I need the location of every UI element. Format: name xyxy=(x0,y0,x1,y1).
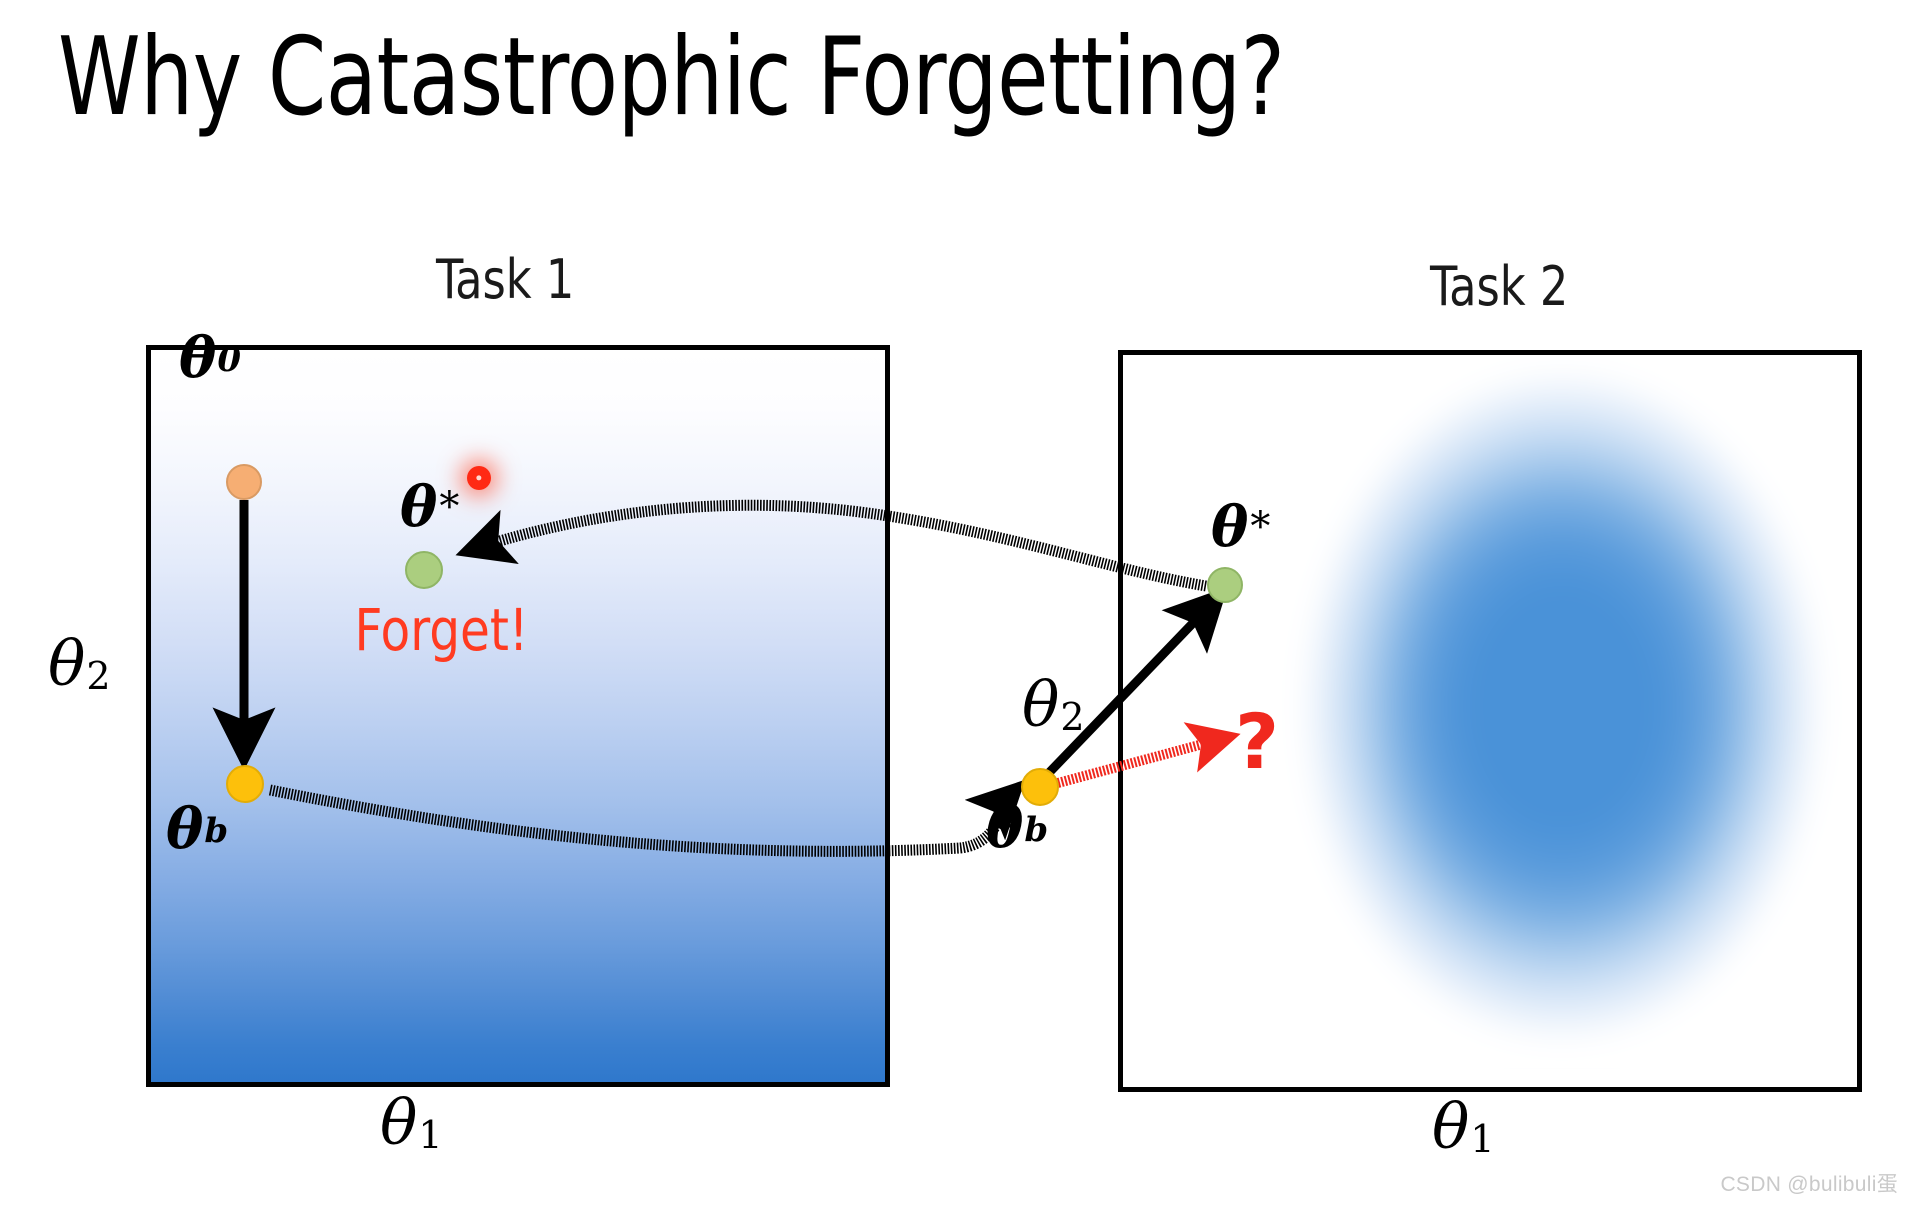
loss-blob-task2 xyxy=(1211,350,1862,1092)
axis-label-task2-y-sub: 2 xyxy=(1060,695,1084,739)
theta-glyph: θ xyxy=(986,795,1023,861)
point-label-task1-thetab: θb xyxy=(166,796,228,862)
superscript-glyph: b xyxy=(204,811,228,851)
marker-task1-true-optimum xyxy=(472,471,486,485)
star-glyph: * xyxy=(439,484,459,530)
axis-label-task1-y: θ2 xyxy=(48,627,111,700)
forget-annotation: Forget! xyxy=(355,596,529,664)
axis-label-task2-x: θ1 xyxy=(1432,1090,1495,1163)
axis-label-task2-x-base: θ xyxy=(1432,1090,1469,1163)
theta-glyph: θ xyxy=(179,325,216,391)
point-label-task2-thetab: θb xyxy=(986,795,1048,861)
question-mark-annotation: ? xyxy=(1235,697,1279,786)
watermark: CSDN @bulibuli蛋 xyxy=(1720,1168,1898,1198)
panel-heading-task2: Task 2 xyxy=(1430,255,1568,318)
marker-task1-theta0 xyxy=(226,464,262,500)
axis-label-task1-x-sub: 1 xyxy=(418,1113,442,1157)
marker-task1-thetastar xyxy=(405,551,443,589)
axis-label-task2-y: θ2 xyxy=(1022,668,1085,741)
axis-label-task1-x: θ1 xyxy=(380,1086,443,1159)
superscript-glyph: 0 xyxy=(217,340,241,380)
point-label-task1-theta0: θ0 xyxy=(179,325,241,391)
theta-glyph: θ xyxy=(1211,494,1248,560)
plot-panel-task2 xyxy=(1118,350,1862,1092)
axis-label-task1-y-sub: 2 xyxy=(86,654,110,698)
plot-panel-task1 xyxy=(146,345,890,1087)
axis-label-task2-y-base: θ xyxy=(1022,668,1059,741)
superscript-glyph: b xyxy=(1024,810,1048,850)
axis-label-task1-y-base: θ xyxy=(48,627,85,700)
loss-surface-task2 xyxy=(1123,355,1857,1087)
axis-label-task2-x-sub: 1 xyxy=(1470,1117,1494,1161)
theta-glyph: θ xyxy=(400,474,437,540)
panel-heading-task1: Task 1 xyxy=(436,248,574,311)
point-label-task2-thetastar: θ* xyxy=(1211,494,1270,560)
star-glyph: * xyxy=(1250,504,1270,550)
theta-glyph: θ xyxy=(166,796,203,862)
marker-task2-thetastar xyxy=(1207,567,1243,603)
point-label-task1-thetastar: θ* xyxy=(400,474,459,540)
axis-label-task1-x-base: θ xyxy=(380,1086,417,1159)
slide-canvas: Why Catastrophic Forgetting? Task 1 θ2 θ… xyxy=(0,0,1914,1206)
page-title: Why Catastrophic Forgetting? xyxy=(58,16,1285,140)
loss-surface-task1 xyxy=(151,350,885,1082)
marker-task1-thetab xyxy=(226,765,264,803)
